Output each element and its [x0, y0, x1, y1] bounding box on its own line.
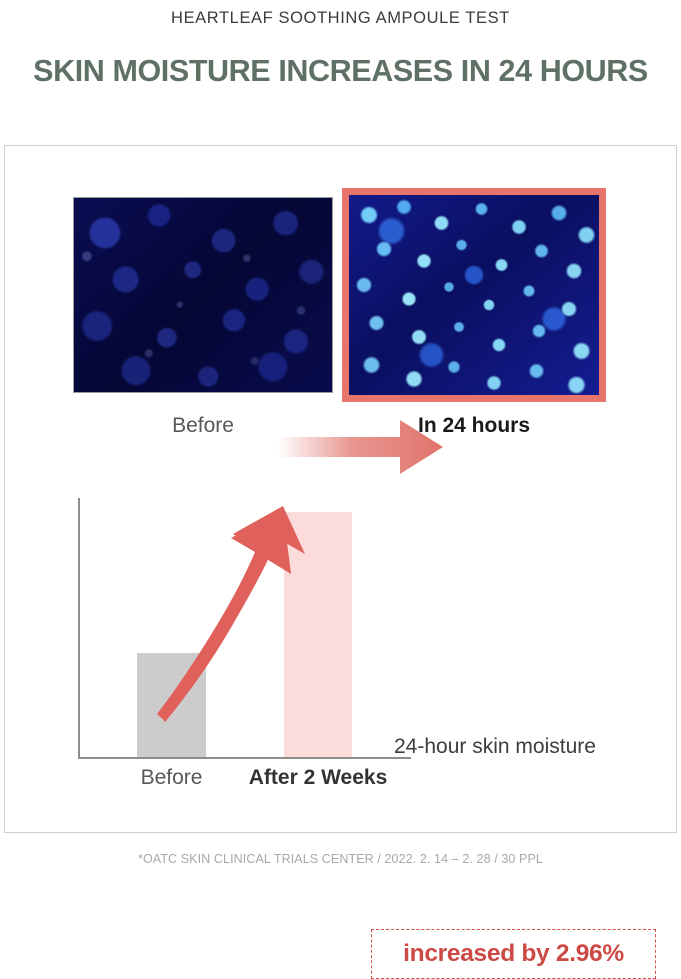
before-photo-texture — [74, 198, 332, 392]
chart-x-axis — [78, 757, 411, 759]
page-title: SKIN MOISTURE INCREASES IN 24 HOURS — [0, 54, 681, 89]
after-photo — [342, 188, 606, 402]
callout-title: 24-hour skin moisture — [394, 735, 596, 759]
after-photo-texture — [349, 195, 599, 395]
bar-after-2-weeks — [284, 512, 352, 757]
callout-value: increased by 2.96% — [403, 940, 624, 968]
bar-before — [137, 653, 206, 757]
moisture-bar-chart: Before After 2 Weeks 24-hour skin moistu… — [5, 446, 678, 834]
footnote: *OATC SKIN CLINICAL TRIALS CENTER / 2022… — [0, 852, 681, 866]
chart-label-before: Before — [137, 766, 206, 790]
after-photo-caption: In 24 hours — [342, 414, 606, 438]
content-panel: Before In 24 hours Before After 2 Weeks … — [4, 145, 677, 833]
eyebrow-title: HEARTLEAF SOOTHING AMPOULE TEST — [0, 9, 681, 28]
callout-box: increased by 2.96% — [371, 929, 656, 979]
before-photo-caption: Before — [73, 414, 333, 438]
before-photo — [73, 197, 333, 393]
photo-comparison: Before In 24 hours — [5, 146, 678, 446]
chart-y-axis — [78, 498, 80, 759]
chart-label-after-2-weeks: After 2 Weeks — [235, 766, 401, 790]
